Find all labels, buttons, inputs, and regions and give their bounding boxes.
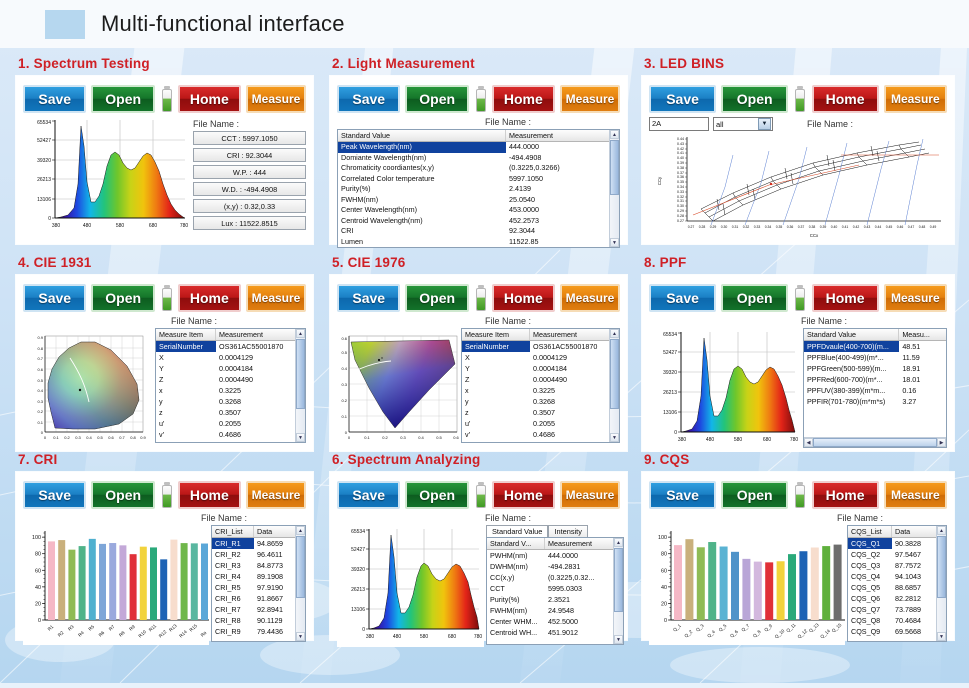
svg-text:480: 480 xyxy=(706,437,715,443)
table-row[interactable]: CRI_R296.4611 xyxy=(212,549,305,560)
table-row[interactable]: PPFDvaule(400-700)(m...48.51 xyxy=(804,341,946,352)
column-header[interactable]: Measurement xyxy=(506,130,606,141)
table-row[interactable]: PPFUV(380-399)(m*m...0.16 xyxy=(804,385,946,396)
toolbar: Save Open Home Measure xyxy=(337,282,620,313)
cie-1976-svg: x 00.10.2 0.30.40.5 0.6 00.10.2 0.30.40.… xyxy=(337,328,459,446)
svg-text:0.47: 0.47 xyxy=(908,225,915,229)
battery-icon xyxy=(162,482,171,508)
table-row[interactable]: Correlated Color temperature5997.1050 xyxy=(338,174,619,185)
cie-1976-chart: x 00.10.2 0.30.40.5 0.6 00.10.2 0.30.40.… xyxy=(337,328,459,446)
cell-value: 92.3044 xyxy=(506,226,606,237)
panel-title: 1. Spectrum Testing xyxy=(18,56,313,71)
cell-label: CRI xyxy=(338,226,506,237)
svg-text:0.34: 0.34 xyxy=(765,225,772,229)
cell-value: 73.7889 xyxy=(892,604,939,615)
column-header[interactable]: Measu... xyxy=(899,329,946,340)
table-row[interactable]: CRI_R597.9190 xyxy=(212,582,305,593)
vertical-scrollbar[interactable]: ▲▼ xyxy=(936,526,946,641)
table-header: CQS_ListData xyxy=(848,526,946,538)
svg-text:R3: R3 xyxy=(67,624,75,632)
measurement-table[interactable]: Standard ValueMeasurementPeak Wavelength… xyxy=(337,129,620,248)
open-button[interactable]: Open xyxy=(721,481,788,509)
svg-text:0.2: 0.2 xyxy=(341,398,347,403)
file-name-label: File Name : xyxy=(193,119,306,129)
measure-button[interactable]: Measure xyxy=(884,481,947,509)
toolbar: Save Open Home Measure xyxy=(649,479,947,510)
cell-value: 0.3268 xyxy=(530,396,612,407)
cell-label: Y xyxy=(462,363,530,374)
svg-text:39320: 39320 xyxy=(663,370,677,376)
tab-intensity[interactable]: Intensity xyxy=(548,525,588,537)
panel-title: 4. CIE 1931 xyxy=(18,255,313,270)
cell-label: Z xyxy=(462,374,530,385)
cell-value: 0.3225 xyxy=(216,385,296,396)
table-row[interactable]: FWHM(nm)25.0540 xyxy=(338,195,619,206)
column-header[interactable]: Standard V... xyxy=(487,538,545,549)
scrollbar-thumb[interactable] xyxy=(610,339,619,409)
svg-text:0.2: 0.2 xyxy=(64,435,70,440)
table-row[interactable]: CQS_Q494.1043 xyxy=(848,571,946,582)
table-row[interactable]: CQS_Q190.3828 xyxy=(848,538,946,549)
scroll-down-icon[interactable]: ▼ xyxy=(610,433,619,442)
cell-value: 90.1129 xyxy=(254,615,297,626)
svg-text:0.9: 0.9 xyxy=(37,335,43,340)
table-row[interactable]: CQS_Q773.7889 xyxy=(848,604,946,615)
cell-value: 11522.85 xyxy=(506,237,606,248)
file-name-label: File Name : xyxy=(485,316,620,326)
home-button[interactable]: Home xyxy=(178,85,241,113)
table-row[interactable]: SerialNumberOS361AC55001870 xyxy=(462,341,619,352)
svg-text:R6: R6 xyxy=(98,630,106,638)
table-row[interactable]: SerialNumberOS361AC55001870 xyxy=(156,341,305,352)
svg-text:26213: 26213 xyxy=(663,390,677,396)
save-button[interactable]: Save xyxy=(23,481,86,509)
scroll-down-icon[interactable]: ▼ xyxy=(610,238,619,247)
column-header[interactable]: CQS_List xyxy=(848,526,892,537)
home-button[interactable]: Home xyxy=(492,481,555,509)
cell-label: PPFIR(701-780)(m*m*s) xyxy=(804,396,899,407)
svg-text:65534: 65534 xyxy=(663,332,677,338)
cell-value: OS361AC55001870 xyxy=(530,341,612,352)
home-button[interactable]: Home xyxy=(492,85,555,113)
cell-value: 92.8941 xyxy=(254,604,297,615)
table-row[interactable]: CRI_R691.8667 xyxy=(212,593,305,604)
svg-text:13106: 13106 xyxy=(37,197,51,203)
spectrum-analyzing-table[interactable]: Standard V...MeasurementPWHM(nm)444.0000… xyxy=(486,537,624,645)
tab-standard-value[interactable]: Standard Value xyxy=(486,525,548,537)
table-row[interactable]: v'0.4686 xyxy=(156,429,305,440)
readout-wp: W.P. : 444 xyxy=(193,165,306,179)
cell-label: x xyxy=(462,385,530,396)
scroll-up-icon[interactable]: ▲ xyxy=(296,329,305,338)
table-row[interactable]: PPFIR(701-780)(m*m*s)3.27 xyxy=(804,396,946,407)
open-button[interactable]: Open xyxy=(405,284,468,312)
svg-text:0.44: 0.44 xyxy=(875,225,882,229)
svg-text:0.31: 0.31 xyxy=(732,225,739,229)
table-row[interactable]: v'0.4686 xyxy=(462,429,619,440)
save-button[interactable]: Save xyxy=(649,284,716,312)
svg-text:480: 480 xyxy=(83,223,92,229)
readout-xy: (x,y) : 0.32,0.33 xyxy=(193,199,306,213)
save-button[interactable]: Save xyxy=(337,284,400,312)
open-button[interactable]: Open xyxy=(91,85,154,113)
svg-text:0.1: 0.1 xyxy=(53,435,59,440)
column-header[interactable]: Standard Value xyxy=(338,130,506,141)
scroll-up-icon[interactable]: ▲ xyxy=(614,538,623,547)
cell-value: 79.4436 xyxy=(254,626,297,637)
measure-button[interactable]: Measure xyxy=(560,85,620,113)
cri-table[interactable]: CRI_ListDataCRI_R194.8659CRI_R296.4611CR… xyxy=(211,525,306,642)
save-button[interactable]: Save xyxy=(649,85,716,113)
svg-text:580: 580 xyxy=(420,634,429,640)
table-row[interactable]: CRI_R489.1908 xyxy=(212,571,305,582)
table-row[interactable]: CRI_R979.4436 xyxy=(212,626,305,637)
cell-value: (0.3225,0.3266) xyxy=(506,163,606,174)
cell-label: SerialNumber xyxy=(156,341,216,352)
table-row[interactable]: Z0.0004490 xyxy=(156,374,305,385)
table-row[interactable]: CQS_Q297.5467 xyxy=(848,549,946,560)
cie-1976-table[interactable]: Measure ItemMeasurementSerialNumberOS361… xyxy=(461,328,620,443)
cell-label: y xyxy=(462,396,530,407)
table-row[interactable]: X0.0004129 xyxy=(156,352,305,363)
save-button[interactable]: Save xyxy=(23,284,86,312)
scrollbar-thumb[interactable] xyxy=(610,140,619,195)
scrollbar-thumb[interactable] xyxy=(296,339,305,409)
file-name-label: File Name : xyxy=(201,513,306,523)
spectrum-analyzing-chart: 013106 2621339320 5242765534 380480 5806… xyxy=(337,525,484,647)
file-name-label: File Name : xyxy=(485,117,620,127)
svg-text:0.33: 0.33 xyxy=(754,225,761,229)
bin-filter-select[interactable]: all ▼ xyxy=(713,117,773,131)
column-header[interactable]: Data xyxy=(892,526,939,537)
svg-text:680: 680 xyxy=(149,223,158,229)
cell-value: 452.5000 xyxy=(545,616,613,627)
open-button[interactable]: Open xyxy=(91,481,154,509)
cell-value: 11.59 xyxy=(899,352,946,363)
measurement-point xyxy=(770,183,772,185)
svg-text:0: 0 xyxy=(674,430,677,436)
svg-text:0.3: 0.3 xyxy=(75,435,81,440)
svg-text:R9: R9 xyxy=(128,624,136,632)
cell-value: 88.6857 xyxy=(892,582,939,593)
panel-spectrum-testing: 1. Spectrum Testing Save Open Home Measu… xyxy=(16,56,313,244)
table-header: Measure ItemMeasurement xyxy=(156,329,305,341)
scroll-right-icon[interactable]: ▶ xyxy=(937,438,946,447)
svg-text:13106: 13106 xyxy=(663,410,677,416)
open-button[interactable]: Open xyxy=(91,284,154,312)
column-header[interactable]: Measurement xyxy=(545,538,613,549)
cell-value: 0.2055 xyxy=(216,418,296,429)
ppf-table[interactable]: Standard ValueMeasu...PPFDvaule(400-700)… xyxy=(803,328,947,448)
cell-value: 0.0004184 xyxy=(216,363,296,374)
scrollbar-thumb[interactable] xyxy=(296,536,305,598)
column-header[interactable]: CRI_List xyxy=(212,526,254,537)
cell-value: 451.9012 xyxy=(545,627,613,638)
table-row[interactable]: Z0.0004490 xyxy=(462,374,619,385)
home-button[interactable]: Home xyxy=(812,85,879,113)
table-row[interactable]: u'0.2055 xyxy=(462,418,619,429)
panel-card: Save Open Home Measure File Name : 02040… xyxy=(642,472,954,640)
cell-label: CRI_R1 xyxy=(212,538,254,549)
table-row[interactable]: z0.3507 xyxy=(156,407,305,418)
scroll-up-icon[interactable]: ▲ xyxy=(937,526,946,535)
table-row[interactable]: CC(x,y)(0.3225,0.32... xyxy=(487,572,623,583)
table-row[interactable]: Centroid Wavelength(nm)452.2573 xyxy=(338,216,619,227)
cell-label: v' xyxy=(462,429,530,440)
open-button[interactable]: Open xyxy=(405,481,468,509)
cell-value: 69.5668 xyxy=(892,626,939,637)
cell-value: 25.0540 xyxy=(506,195,606,206)
home-button[interactable]: Home xyxy=(812,481,879,509)
cqs-table[interactable]: CQS_ListDataCQS_Q190.3828CQS_Q297.5467CQ… xyxy=(847,525,947,642)
home-button[interactable]: Home xyxy=(812,284,879,312)
header-swatch-icon xyxy=(45,10,85,39)
cell-label: FWHM(nm) xyxy=(487,605,545,616)
measure-button[interactable]: Measure xyxy=(884,284,947,312)
table-row[interactable]: CQS_Q387.7572 xyxy=(848,560,946,571)
table-row[interactable]: Centroid WH...451.9012 xyxy=(487,627,623,638)
measure-button[interactable]: Measure xyxy=(246,481,306,509)
svg-text:0.3: 0.3 xyxy=(341,382,347,387)
home-button[interactable]: Home xyxy=(178,284,241,312)
table-row[interactable]: CCT5995.0303 xyxy=(487,583,623,594)
table-row[interactable]: DWHM(nm)-494.2831 xyxy=(487,561,623,572)
panel-card: Save Open Home Measure File Name : xyxy=(330,275,627,451)
cell-label: CQS_Q6 xyxy=(848,593,892,604)
table-row[interactable]: z0.3507 xyxy=(462,407,619,418)
cell-label: Y xyxy=(156,363,216,374)
table-row[interactable]: PPFBlue(400-499)(m*...11.59 xyxy=(804,352,946,363)
svg-text:0.34: 0.34 xyxy=(677,185,684,189)
cie-1931-table[interactable]: Measure ItemMeasurementSerialNumberOS361… xyxy=(155,328,306,443)
column-header[interactable]: Measure Item xyxy=(462,329,530,340)
cell-label: Center WHM... xyxy=(487,616,545,627)
vertical-scrollbar[interactable]: ▲▼ xyxy=(295,526,305,641)
vertical-scrollbar[interactable]: ▲▼ xyxy=(609,130,619,247)
cell-value: 0.2055 xyxy=(530,418,612,429)
cell-label: Lumen xyxy=(338,237,506,248)
measure-button[interactable]: Measure xyxy=(560,284,620,312)
table-row[interactable]: y0.3268 xyxy=(462,396,619,407)
cell-value: 18.91 xyxy=(899,363,946,374)
home-button[interactable]: Home xyxy=(492,284,555,312)
table-row[interactable]: CQS_Q969.5668 xyxy=(848,626,946,637)
battery-icon xyxy=(476,285,485,311)
table-row[interactable]: X0.0004129 xyxy=(462,352,619,363)
column-header[interactable]: Measure Item xyxy=(156,329,216,340)
table-row[interactable]: FWHM(nm)24.9548 xyxy=(487,605,623,616)
table-row[interactable]: Y0.0004184 xyxy=(462,363,619,374)
measure-button[interactable]: Measure xyxy=(884,85,947,113)
scroll-up-icon[interactable]: ▲ xyxy=(610,130,619,139)
panel-cqs: 9. CQS Save Open Home Measure File Name … xyxy=(642,452,954,640)
svg-text:0.6: 0.6 xyxy=(341,336,347,341)
svg-text:0.41: 0.41 xyxy=(842,225,849,229)
cell-label: FWHM(nm) xyxy=(338,195,506,206)
vertical-scrollbar[interactable]: ▲▼ xyxy=(613,538,623,644)
svg-text:0.8: 0.8 xyxy=(37,346,43,351)
svg-text:x: x xyxy=(381,355,383,360)
table-row[interactable]: CQS_Q682.2812 xyxy=(848,593,946,604)
panel-cie-1931: 4. CIE 1931 Save Open Home Measure File … xyxy=(16,255,313,451)
svg-text:0.5: 0.5 xyxy=(97,435,103,440)
svg-text:20: 20 xyxy=(35,601,41,607)
svg-text:40: 40 xyxy=(35,585,41,591)
readout-cri: CRI : 92.3044 xyxy=(193,148,306,162)
open-button[interactable]: Open xyxy=(721,284,788,312)
table-row[interactable]: CRI92.3044 xyxy=(338,226,619,237)
panel-title: 9. CQS xyxy=(644,452,954,467)
svg-text:380: 380 xyxy=(678,437,687,443)
column-header[interactable]: Data xyxy=(254,526,297,537)
cell-value: 0.3507 xyxy=(530,407,612,418)
table-row[interactable]: PWHM(nm)444.0000 xyxy=(487,550,623,561)
table-row[interactable]: Center WHM...452.5000 xyxy=(487,616,623,627)
open-button[interactable]: Open xyxy=(405,85,468,113)
scroll-down-icon[interactable]: ▼ xyxy=(937,632,946,641)
svg-text:780: 780 xyxy=(180,223,189,229)
svg-text:52427: 52427 xyxy=(663,350,677,356)
panel-cri: 7. CRI Save Open Home Measure File Name … xyxy=(16,452,313,640)
svg-text:0.4: 0.4 xyxy=(341,366,347,371)
readout-wd: W.D. : -494.4908 xyxy=(193,182,306,196)
cell-label: X xyxy=(462,352,530,363)
measure-button[interactable]: Measure xyxy=(246,284,306,312)
cell-value: 0.0004490 xyxy=(216,374,296,385)
panel-card: Save Open Home Measure File Name : xyxy=(330,472,627,640)
svg-text:0.6: 0.6 xyxy=(453,435,459,440)
scrollbar-thumb[interactable] xyxy=(937,536,946,598)
table-row[interactable]: u'0.2055 xyxy=(156,418,305,429)
chevron-down-icon[interactable]: ▼ xyxy=(758,118,771,130)
svg-text:Q_15: Q_15 xyxy=(831,622,843,634)
svg-text:0.8: 0.8 xyxy=(130,435,136,440)
save-button[interactable]: Save xyxy=(337,481,400,509)
svg-text:680: 680 xyxy=(448,634,457,640)
file-name-label: File Name : xyxy=(801,316,947,326)
save-button[interactable]: Save xyxy=(23,85,86,113)
table-row[interactable]: x0.3225 xyxy=(156,385,305,396)
cell-label: CQS_Q7 xyxy=(848,604,892,615)
cell-label: CCT xyxy=(487,583,545,594)
svg-text:0.27: 0.27 xyxy=(677,219,684,223)
svg-text:0.3: 0.3 xyxy=(400,435,406,440)
table-row[interactable]: Purity(%)2.4139 xyxy=(338,184,619,195)
svg-text:Q_11: Q_11 xyxy=(785,622,797,633)
table-row[interactable]: Purity(%)2.3521 xyxy=(487,594,623,605)
cell-value: 84.8773 xyxy=(254,560,297,571)
table-row[interactable]: CQS_Q588.6857 xyxy=(848,582,946,593)
vertical-scrollbar[interactable]: ▲▼ xyxy=(609,329,619,442)
horizontal-scrollbar[interactable]: ◀▶ xyxy=(804,437,946,447)
svg-text:0.38: 0.38 xyxy=(809,225,816,229)
svg-text:0: 0 xyxy=(38,618,41,624)
measure-button[interactable]: Measure xyxy=(560,481,620,509)
svg-text:0.42: 0.42 xyxy=(677,147,684,151)
svg-text:0.43: 0.43 xyxy=(864,225,871,229)
scroll-up-icon[interactable]: ▲ xyxy=(296,526,305,535)
column-header[interactable]: Standard Value xyxy=(804,329,899,340)
spectrum-chart: 013106 2621339320 5242765534 380480 5806… xyxy=(23,116,191,236)
home-button[interactable]: Home xyxy=(178,481,241,509)
cell-value: 24.9548 xyxy=(545,605,613,616)
table-row[interactable]: PPFGreen(500-599)(m...18.91 xyxy=(804,363,946,374)
cell-value: 97.5467 xyxy=(892,549,939,560)
panel-title: 6. Spectrum Analyzing xyxy=(332,452,627,467)
cell-label: CQS_Q1 xyxy=(848,538,892,549)
cell-value: 444.0000 xyxy=(506,142,606,153)
table-row[interactable]: Peak Wavelength(nm)444.0000 xyxy=(338,142,619,153)
svg-text:20: 20 xyxy=(661,601,667,607)
table-row[interactable]: CRI_R194.8659 xyxy=(212,538,305,549)
spectrum-chart-svg: 013106 2621339320 5242765534 380480 5806… xyxy=(23,116,191,236)
cell-value: 0.3225 xyxy=(530,385,612,396)
svg-text:0.33: 0.33 xyxy=(677,190,684,194)
toolbar: Save Open Home Measure xyxy=(23,479,306,510)
cell-value: 0.4686 xyxy=(216,429,296,440)
cell-value: 0.3507 xyxy=(216,407,296,418)
svg-text:380: 380 xyxy=(52,223,61,229)
table-header: Standard ValueMeasurement xyxy=(338,130,619,142)
scrollbar-thumb[interactable] xyxy=(614,548,623,612)
cell-label: z xyxy=(462,407,530,418)
bin-code-input[interactable]: 2A xyxy=(649,117,709,131)
scroll-down-icon[interactable]: ▼ xyxy=(296,433,305,442)
cell-label: Center Wavelength(nm) xyxy=(338,205,506,216)
column-header[interactable]: Measurement xyxy=(530,329,612,340)
table-row[interactable]: Domiante Wavelength(nm)-494.4908 xyxy=(338,153,619,164)
table-row[interactable]: x0.3225 xyxy=(462,385,619,396)
cell-value: OS361AC55001870 xyxy=(216,341,296,352)
cell-label: PPFGreen(500-599)(m... xyxy=(804,363,899,374)
scroll-down-icon[interactable]: ▼ xyxy=(296,632,305,641)
table-row[interactable]: Center Wavelength(nm)453.0000 xyxy=(338,205,619,216)
table-row[interactable]: PPFRed(600-700)(m*...18.01 xyxy=(804,374,946,385)
svg-text:0.35: 0.35 xyxy=(677,180,684,184)
open-button[interactable]: Open xyxy=(721,85,788,113)
panel-cie-1976: 5. CIE 1976 Save Open Home Measure File … xyxy=(330,255,627,451)
table-row[interactable]: Lumen11522.85 xyxy=(338,237,619,248)
vertical-scrollbar[interactable]: ▲▼ xyxy=(295,329,305,442)
scrollbar-thumb[interactable] xyxy=(813,438,937,447)
measure-button[interactable]: Measure xyxy=(246,85,306,113)
table-row[interactable]: Y0.0004184 xyxy=(156,363,305,374)
svg-text:0.6: 0.6 xyxy=(37,367,43,372)
svg-text:0.40: 0.40 xyxy=(677,156,684,160)
table-row[interactable]: CRI_R792.8941 xyxy=(212,604,305,615)
scroll-up-icon[interactable]: ▲ xyxy=(610,329,619,338)
save-button[interactable]: Save xyxy=(649,481,716,509)
toolbar: Save Open Home Measure xyxy=(649,83,947,114)
table-row[interactable]: y0.3268 xyxy=(156,396,305,407)
panel-card: Save Open Home Measure File Name : Stand… xyxy=(330,76,627,244)
svg-text:0.44: 0.44 xyxy=(677,137,684,141)
cell-label: CQS_Q4 xyxy=(848,571,892,582)
table-row[interactable]: CQS_Q870.4684 xyxy=(848,615,946,626)
column-header[interactable]: Measurement xyxy=(216,329,296,340)
save-button[interactable]: Save xyxy=(337,85,400,113)
cell-value: 97.9190 xyxy=(254,582,297,593)
svg-text:0.39: 0.39 xyxy=(677,161,684,165)
table-row[interactable]: Chromaticity coordiantes(x,y)(0.3225,0.3… xyxy=(338,163,619,174)
table-row[interactable]: CRI_R384.8773 xyxy=(212,560,305,571)
scroll-down-icon[interactable]: ▼ xyxy=(614,635,623,644)
table-row[interactable]: CRI_R890.1129 xyxy=(212,615,305,626)
svg-text:R11: R11 xyxy=(148,623,158,632)
cell-label: DWHM(nm) xyxy=(487,561,545,572)
cell-label: PPFRed(600-700)(m*... xyxy=(804,374,899,385)
scroll-left-icon[interactable]: ◀ xyxy=(804,438,813,447)
